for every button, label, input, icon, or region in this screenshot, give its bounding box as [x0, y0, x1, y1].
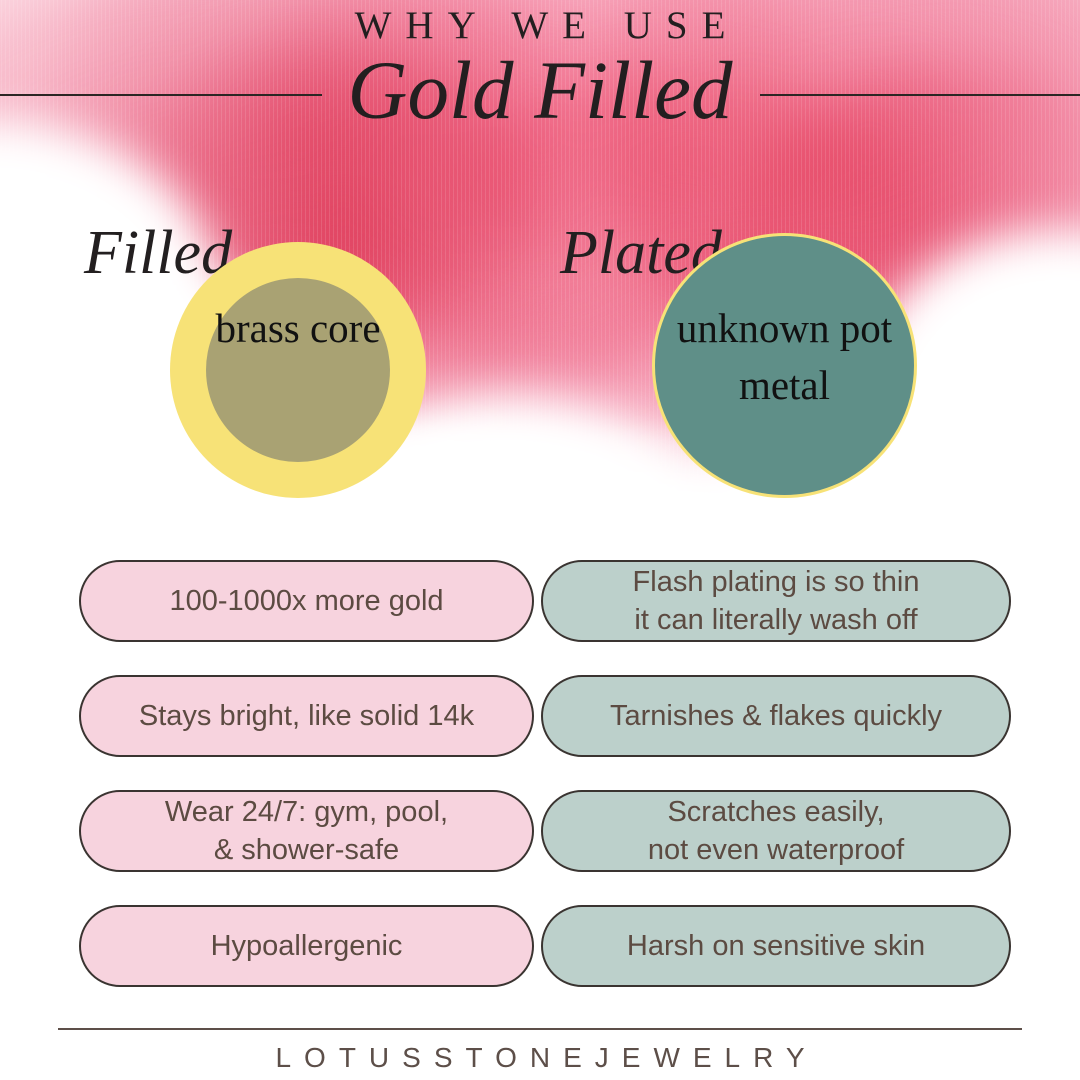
- filled-benefit-pill: Stays bright, like solid 14k: [79, 675, 534, 757]
- category-label-filled: Filled: [84, 222, 232, 284]
- material-comparison-diagram: Filled Plated brass core unknown pot met…: [0, 0, 1080, 540]
- comparison-row: 100-1000x more gold Flash plating is so …: [0, 560, 1080, 642]
- plated-drawback-pill: Harsh on sensitive skin: [541, 905, 1011, 987]
- plated-drawback-pill: Tarnishes & flakes quickly: [541, 675, 1011, 757]
- footer-divider: [58, 1028, 1022, 1030]
- brand-wordmark: LOTUSSTONEJEWELRY: [0, 1042, 1080, 1074]
- brass-core-label: brass core: [206, 300, 390, 357]
- comparison-rows: 100-1000x more gold Flash plating is so …: [0, 560, 1080, 1020]
- comparison-row: Hypoallergenic Harsh on sensitive skin: [0, 905, 1080, 987]
- plated-drawback-pill: Flash plating is so thin it can literall…: [541, 560, 1011, 642]
- comparison-row: Wear 24/7: gym, pool, & shower-safe Scra…: [0, 790, 1080, 872]
- pot-metal-label: unknown pot metal: [652, 300, 917, 413]
- filled-benefit-pill: Wear 24/7: gym, pool, & shower-safe: [79, 790, 534, 872]
- filled-benefit-pill: 100-1000x more gold: [79, 560, 534, 642]
- infographic-canvas: WHY WE USE Gold Filled Filled Plated bra…: [0, 0, 1080, 1080]
- comparison-row: Stays bright, like solid 14k Tarnishes &…: [0, 675, 1080, 757]
- filled-benefit-pill: Hypoallergenic: [79, 905, 534, 987]
- plated-drawback-pill: Scratches easily, not even waterproof: [541, 790, 1011, 872]
